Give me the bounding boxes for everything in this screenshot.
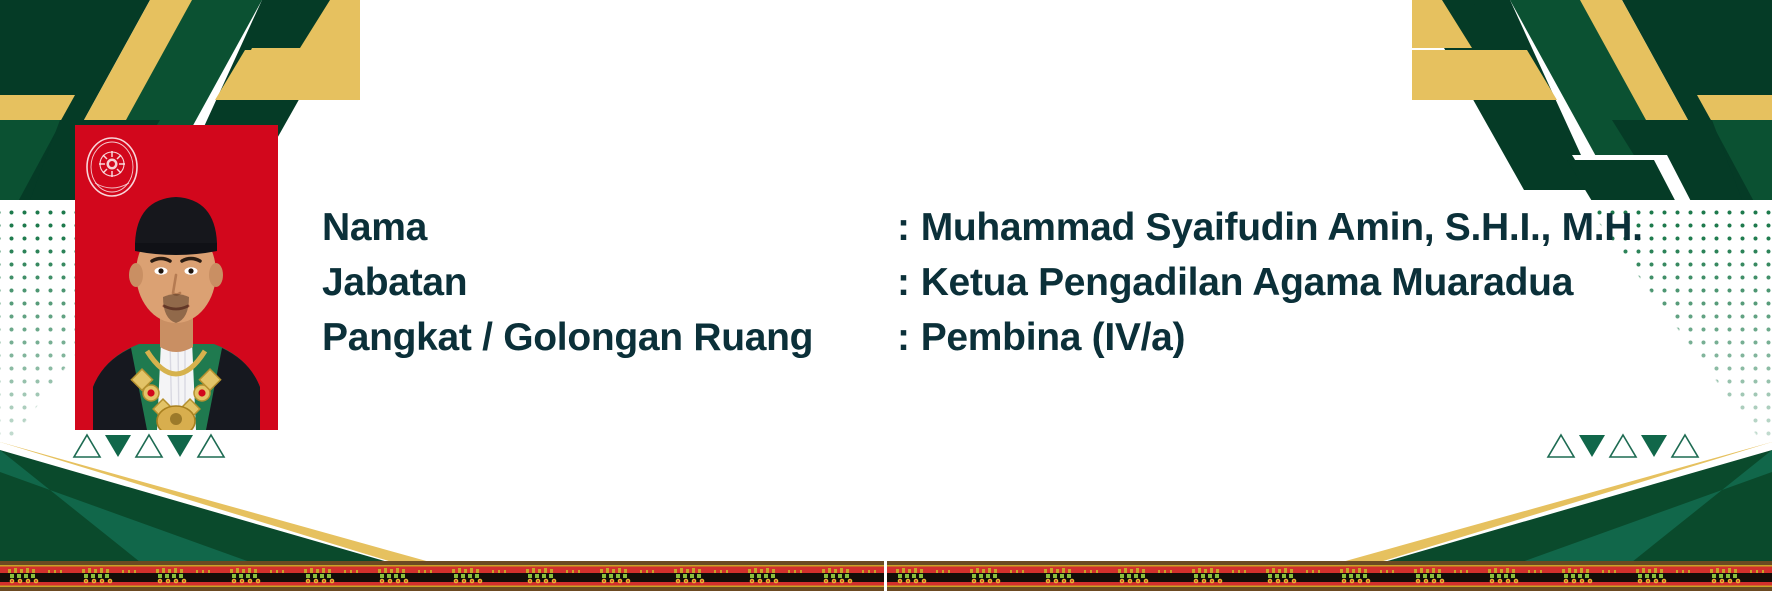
info-value-jabatan-text: Ketua Pengadilan Agama Muaradua	[921, 261, 1573, 304]
mahkamah-agung-emblem-icon	[83, 135, 141, 199]
info-label-jabatan: Jabatan	[322, 255, 897, 310]
officer-photo	[75, 125, 278, 430]
info-value-nama: :Muhammad Syaifudin Amin, S.H.I., M.H.	[897, 200, 1643, 255]
profile-content: Nama :Muhammad Syaifudin Amin, S.H.I., M…	[0, 0, 1772, 591]
officer-profile-card: Nama :Muhammad Syaifudin Amin, S.H.I., M…	[0, 0, 1772, 591]
info-label-nama: Nama	[322, 200, 897, 255]
info-separator: :	[897, 206, 910, 249]
info-label-pangkat-golongan-ruang: Pangkat / Golongan Ruang	[322, 310, 897, 365]
info-separator: :	[897, 316, 910, 359]
info-value-pangkat-golongan-ruang: :Pembina (IV/a)	[897, 310, 1643, 365]
info-separator: :	[897, 261, 910, 304]
info-value-jabatan: :Ketua Pengadilan Agama Muaradua	[897, 255, 1643, 310]
officer-info-table: Nama :Muhammad Syaifudin Amin, S.H.I., M…	[322, 200, 1643, 365]
info-value-nama-text: Muhammad Syaifudin Amin, S.H.I., M.H.	[921, 206, 1643, 249]
info-value-pangkat-text: Pembina (IV/a)	[921, 316, 1186, 359]
